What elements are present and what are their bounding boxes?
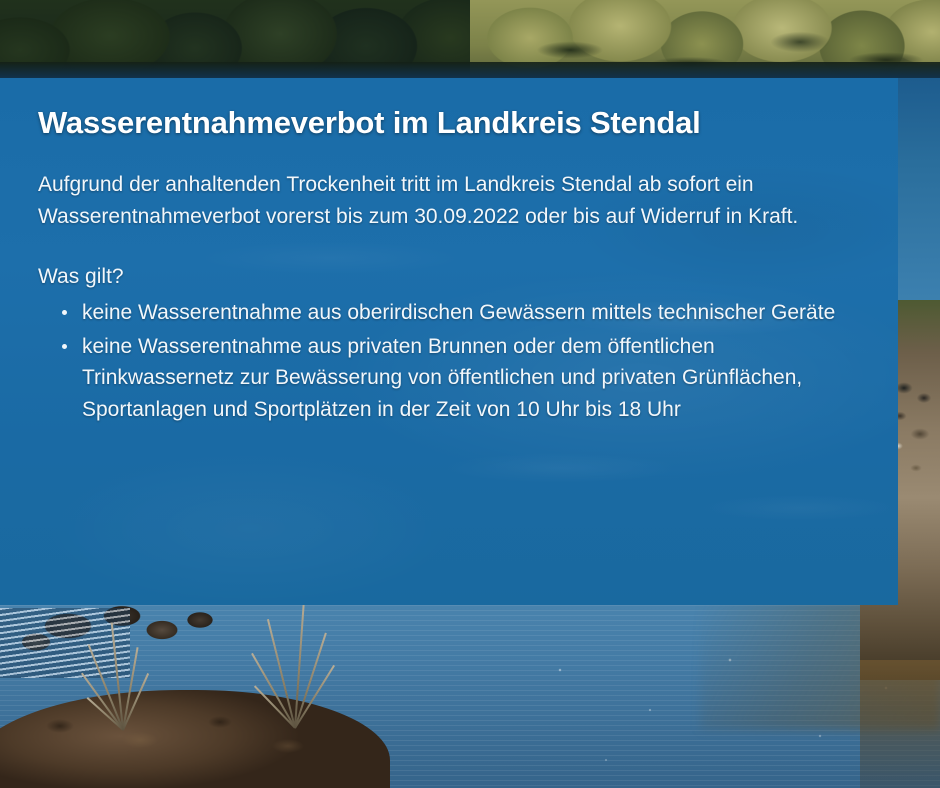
panel-content: Wasserentnahmeverbot im Landkreis Stenda…	[0, 78, 898, 425]
foreground-shrub-left	[78, 620, 198, 730]
blue-info-panel: Wasserentnahmeverbot im Landkreis Stenda…	[0, 78, 898, 605]
section-heading-was-gilt: Was gilt?	[38, 263, 862, 291]
intro-paragraph: Aufgrund der anhaltenden Trockenheit tri…	[38, 169, 862, 233]
list-item: keine Wasserentnahme aus oberirdischen G…	[62, 297, 862, 329]
foreground-shrub-right	[246, 598, 376, 728]
list-item-text: keine Wasserentnahme aus privaten Brunne…	[82, 335, 802, 421]
list-item-text: keine Wasserentnahme aus oberirdischen G…	[82, 301, 835, 324]
right-bank-reflection	[860, 660, 940, 788]
bullet-dot-icon	[62, 310, 67, 315]
page-title: Wasserentnahmeverbot im Landkreis Stenda…	[38, 104, 862, 141]
information-poster: Wasserentnahmeverbot im Landkreis Stenda…	[0, 0, 940, 788]
rules-list: keine Wasserentnahme aus oberirdischen G…	[38, 297, 862, 425]
bullet-dot-icon	[62, 344, 67, 349]
list-item: keine Wasserentnahme aus privaten Brunne…	[62, 331, 862, 426]
